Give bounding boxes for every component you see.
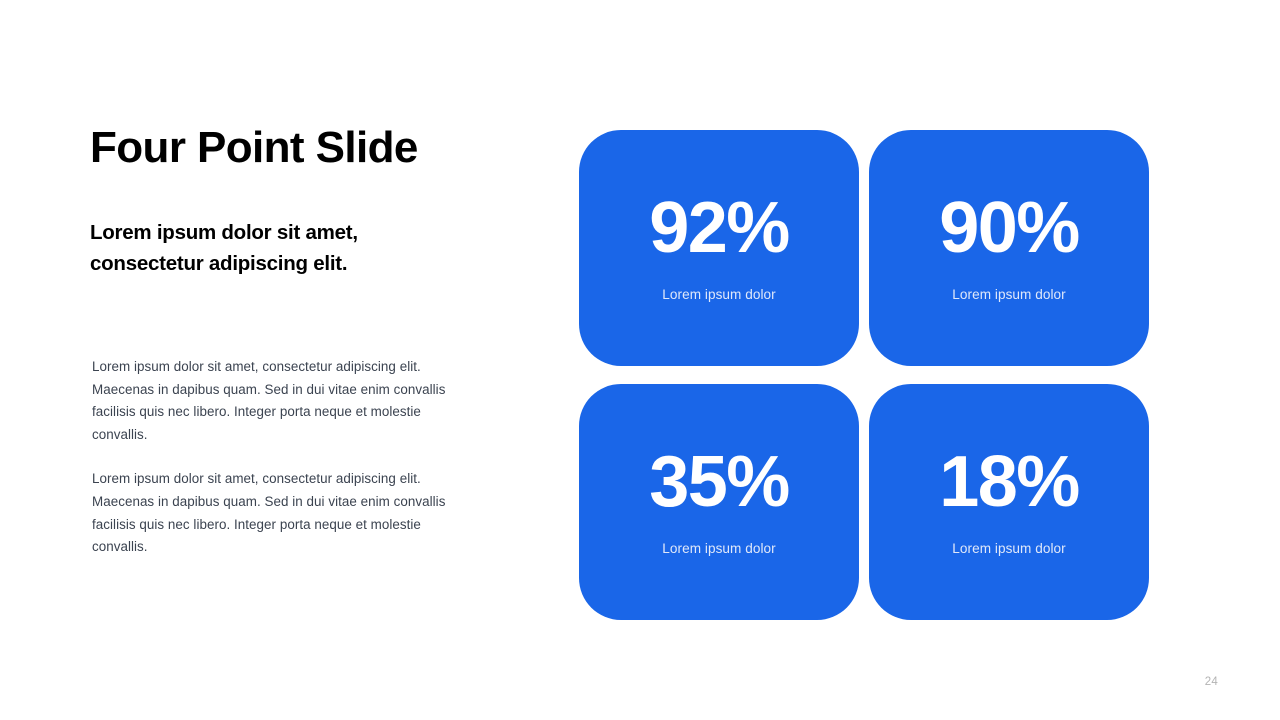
stat-card-2[interactable]: 90% Lorem ipsum dolor (869, 130, 1149, 366)
slide-subtitle: Lorem ipsum dolor sit amet, consectetur … (90, 217, 420, 279)
page-number: 24 (1205, 676, 1218, 688)
stat-card-1[interactable]: 92% Lorem ipsum dolor (579, 130, 859, 366)
body-text-block: Lorem ipsum dolor sit amet, consectetur … (92, 356, 454, 559)
stat-value-4: 18% (939, 446, 1079, 518)
stat-label-2: Lorem ipsum dolor (952, 286, 1065, 304)
stat-value-3: 35% (649, 446, 789, 518)
stat-label-3: Lorem ipsum dolor (662, 540, 775, 558)
left-text-column: Four Point Slide Lorem ipsum dolor sit a… (90, 124, 490, 279)
stat-value-2: 90% (939, 192, 1079, 264)
stat-label-1: Lorem ipsum dolor (662, 286, 775, 304)
page-title: Four Point Slide (90, 124, 490, 172)
slide-canvas: Four Point Slide Lorem ipsum dolor sit a… (0, 0, 1280, 720)
body-paragraph-1: Lorem ipsum dolor sit amet, consectetur … (92, 356, 454, 446)
stat-card-4[interactable]: 18% Lorem ipsum dolor (869, 384, 1149, 620)
stat-label-4: Lorem ipsum dolor (952, 540, 1065, 558)
stat-value-1: 92% (649, 192, 789, 264)
stat-card-3[interactable]: 35% Lorem ipsum dolor (579, 384, 859, 620)
stat-card-grid: 92% Lorem ipsum dolor 90% Lorem ipsum do… (579, 130, 1149, 620)
body-paragraph-2: Lorem ipsum dolor sit amet, consectetur … (92, 468, 454, 558)
